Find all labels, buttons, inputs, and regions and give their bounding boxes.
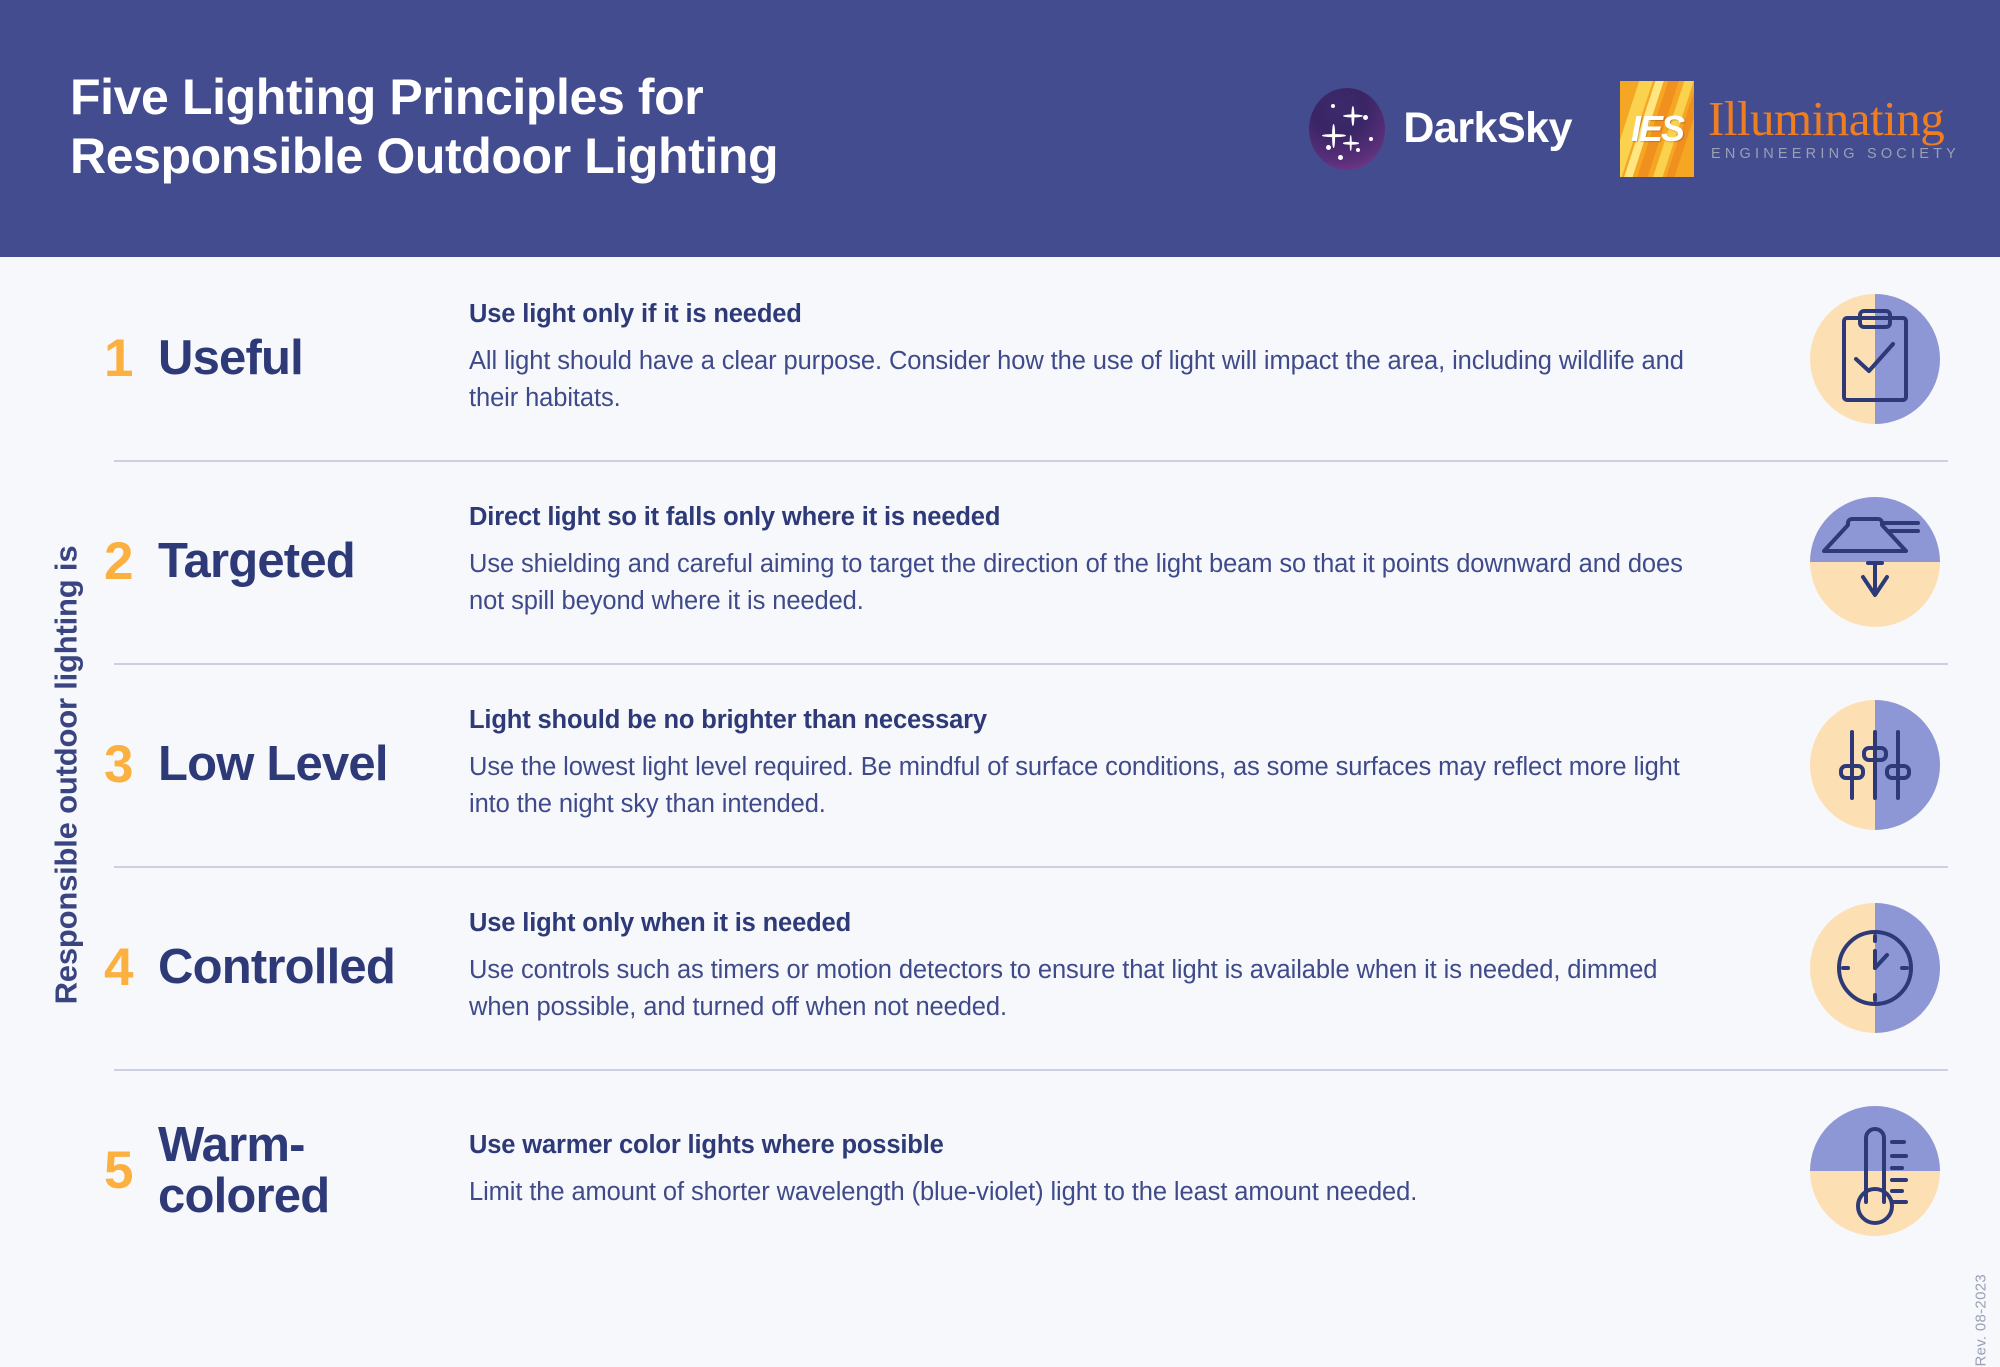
principle-name: Targeted: [158, 536, 355, 587]
principle-icon-cell: [1790, 700, 1960, 830]
ies-badge-icon: IES: [1620, 81, 1694, 177]
ies-logo: IES Illuminating ENGINEERING SOCIETY: [1620, 81, 1960, 177]
principle-number: 4: [104, 941, 158, 994]
principle-copy: Use light only if it is needed All light…: [451, 300, 1790, 416]
principle-identity: 1 Useful: [96, 332, 451, 385]
thermometer-icon: [1810, 1106, 1940, 1236]
shielded-fixture-down-arrow-icon: [1810, 497, 1940, 627]
principle-icon-cell: [1790, 497, 1960, 627]
principle-row: 3 Low Level Light should be no brighter …: [96, 663, 2000, 866]
vertical-axis-label-text: Responsible outdoor lighting is: [48, 545, 84, 1004]
principle-name: Controlled: [158, 942, 395, 993]
ies-title: Illuminating: [1708, 95, 1960, 142]
ies-wordmark: Illuminating ENGINEERING SOCIETY: [1708, 95, 1960, 162]
principle-row: 4 Controlled Use light only when it is n…: [96, 866, 2000, 1069]
principle-identity: 5 Warm- colored: [96, 1120, 451, 1222]
sliders-icon: [1810, 700, 1940, 830]
vertical-axis-label: Responsible outdoor lighting is: [36, 257, 96, 1292]
revision-label: Rev. 08-2023: [1973, 1274, 1990, 1367]
principle-body: Limit the amount of shorter wavelength (…: [469, 1174, 1684, 1211]
principle-number: 1: [104, 332, 158, 385]
principle-name: Low Level: [158, 739, 388, 790]
logo-group: DarkSky IES Illuminating ENGINEERING SOC…: [1309, 0, 1960, 257]
principle-body: All light should have a clear purpose. C…: [469, 343, 1684, 416]
principle-headline: Light should be no brighter than necessa…: [469, 706, 1772, 735]
principle-icon-cell: [1790, 294, 1960, 424]
principle-body: Use controls such as timers or motion de…: [469, 952, 1684, 1025]
principle-icon-cell: [1790, 1106, 1960, 1236]
principle-name: Useful: [158, 333, 303, 384]
principle-headline: Use light only if it is needed: [469, 300, 1772, 329]
clock-icon: [1810, 903, 1940, 1033]
principle-number: 2: [104, 535, 158, 588]
infographic-poster: Five Lighting Principles for Responsible…: [0, 0, 2000, 1292]
principle-row: 1 Useful Use light only if it is needed …: [96, 257, 2000, 460]
principle-identity: 4 Controlled: [96, 941, 451, 994]
principle-number: 5: [104, 1144, 158, 1197]
ies-subtitle: ENGINEERING SOCIETY: [1708, 146, 1960, 162]
principles-section: Responsible outdoor lighting is 1 Useful…: [0, 257, 2000, 1292]
principle-name: Warm- colored: [158, 1120, 329, 1222]
principle-headline: Use warmer color lights where possible: [469, 1131, 1772, 1160]
darksky-night-sky-icon: [1309, 88, 1385, 170]
principle-icon-cell: [1790, 903, 1960, 1033]
darksky-wordmark: DarkSky: [1403, 104, 1572, 153]
principle-copy: Light should be no brighter than necessa…: [451, 706, 1790, 822]
clipboard-check-icon: [1810, 294, 1940, 424]
principle-body: Use the lowest light level required. Be …: [469, 749, 1684, 822]
principle-headline: Direct light so it falls only where it i…: [469, 503, 1772, 532]
principle-row: 5 Warm- colored Use warmer color lights …: [96, 1069, 2000, 1272]
principle-headline: Use light only when it is needed: [469, 909, 1772, 938]
principle-copy: Use warmer color lights where possible L…: [451, 1131, 1790, 1211]
principle-identity: 2 Targeted: [96, 535, 451, 588]
principle-body: Use shielding and careful aiming to targ…: [469, 546, 1684, 619]
ies-mark-text: IES: [1620, 81, 1694, 177]
page-title: Five Lighting Principles for Responsible…: [70, 68, 778, 189]
poster-header: Five Lighting Principles for Responsible…: [0, 0, 2000, 257]
principle-number: 3: [104, 738, 158, 791]
principles-list: 1 Useful Use light only if it is needed …: [96, 257, 2000, 1292]
principle-copy: Use light only when it is needed Use con…: [451, 909, 1790, 1025]
principle-identity: 3 Low Level: [96, 738, 451, 791]
darksky-logo: DarkSky: [1309, 88, 1572, 170]
principle-copy: Direct light so it falls only where it i…: [451, 503, 1790, 619]
principle-row: 2 Targeted Direct light so it falls only…: [96, 460, 2000, 663]
